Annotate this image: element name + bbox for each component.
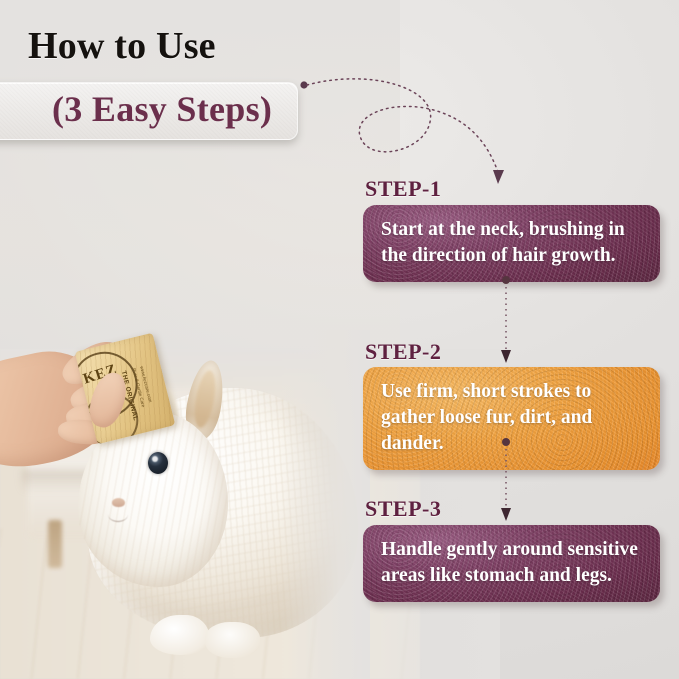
rabbit-nose (112, 498, 125, 507)
step-box-1: Start at the neck, brushing in the direc… (363, 205, 660, 282)
step-text-3: Handle gently around sensitive areas lik… (363, 525, 660, 602)
page-title: How to Use (28, 24, 216, 68)
step-box-3: Handle gently around sensitive areas lik… (363, 525, 660, 602)
step-label-2: STEP-2 (365, 339, 441, 365)
step-label-1: STEP-1 (365, 176, 441, 202)
step-box-2: Use firm, short strokes to gather loose … (363, 367, 660, 470)
page-subtitle: (3 Easy Steps) (52, 88, 272, 130)
rabbit-front-paw-right (205, 622, 260, 658)
step-label-3: STEP-3 (365, 496, 441, 522)
rabbit-eye-glint (152, 456, 158, 462)
step-text-1: Start at the neck, brushing in the direc… (363, 205, 660, 282)
rabbit-eye (148, 452, 168, 474)
step-text-2: Use firm, short strokes to gather loose … (363, 367, 660, 470)
infographic-canvas: KEZ THE ORIGINAL Pure & Gentle Care www.… (0, 0, 679, 679)
rabbit-edge-fade (280, 330, 370, 679)
rabbit-mouth (108, 507, 128, 522)
rabbit-front-paw-left (150, 615, 210, 655)
